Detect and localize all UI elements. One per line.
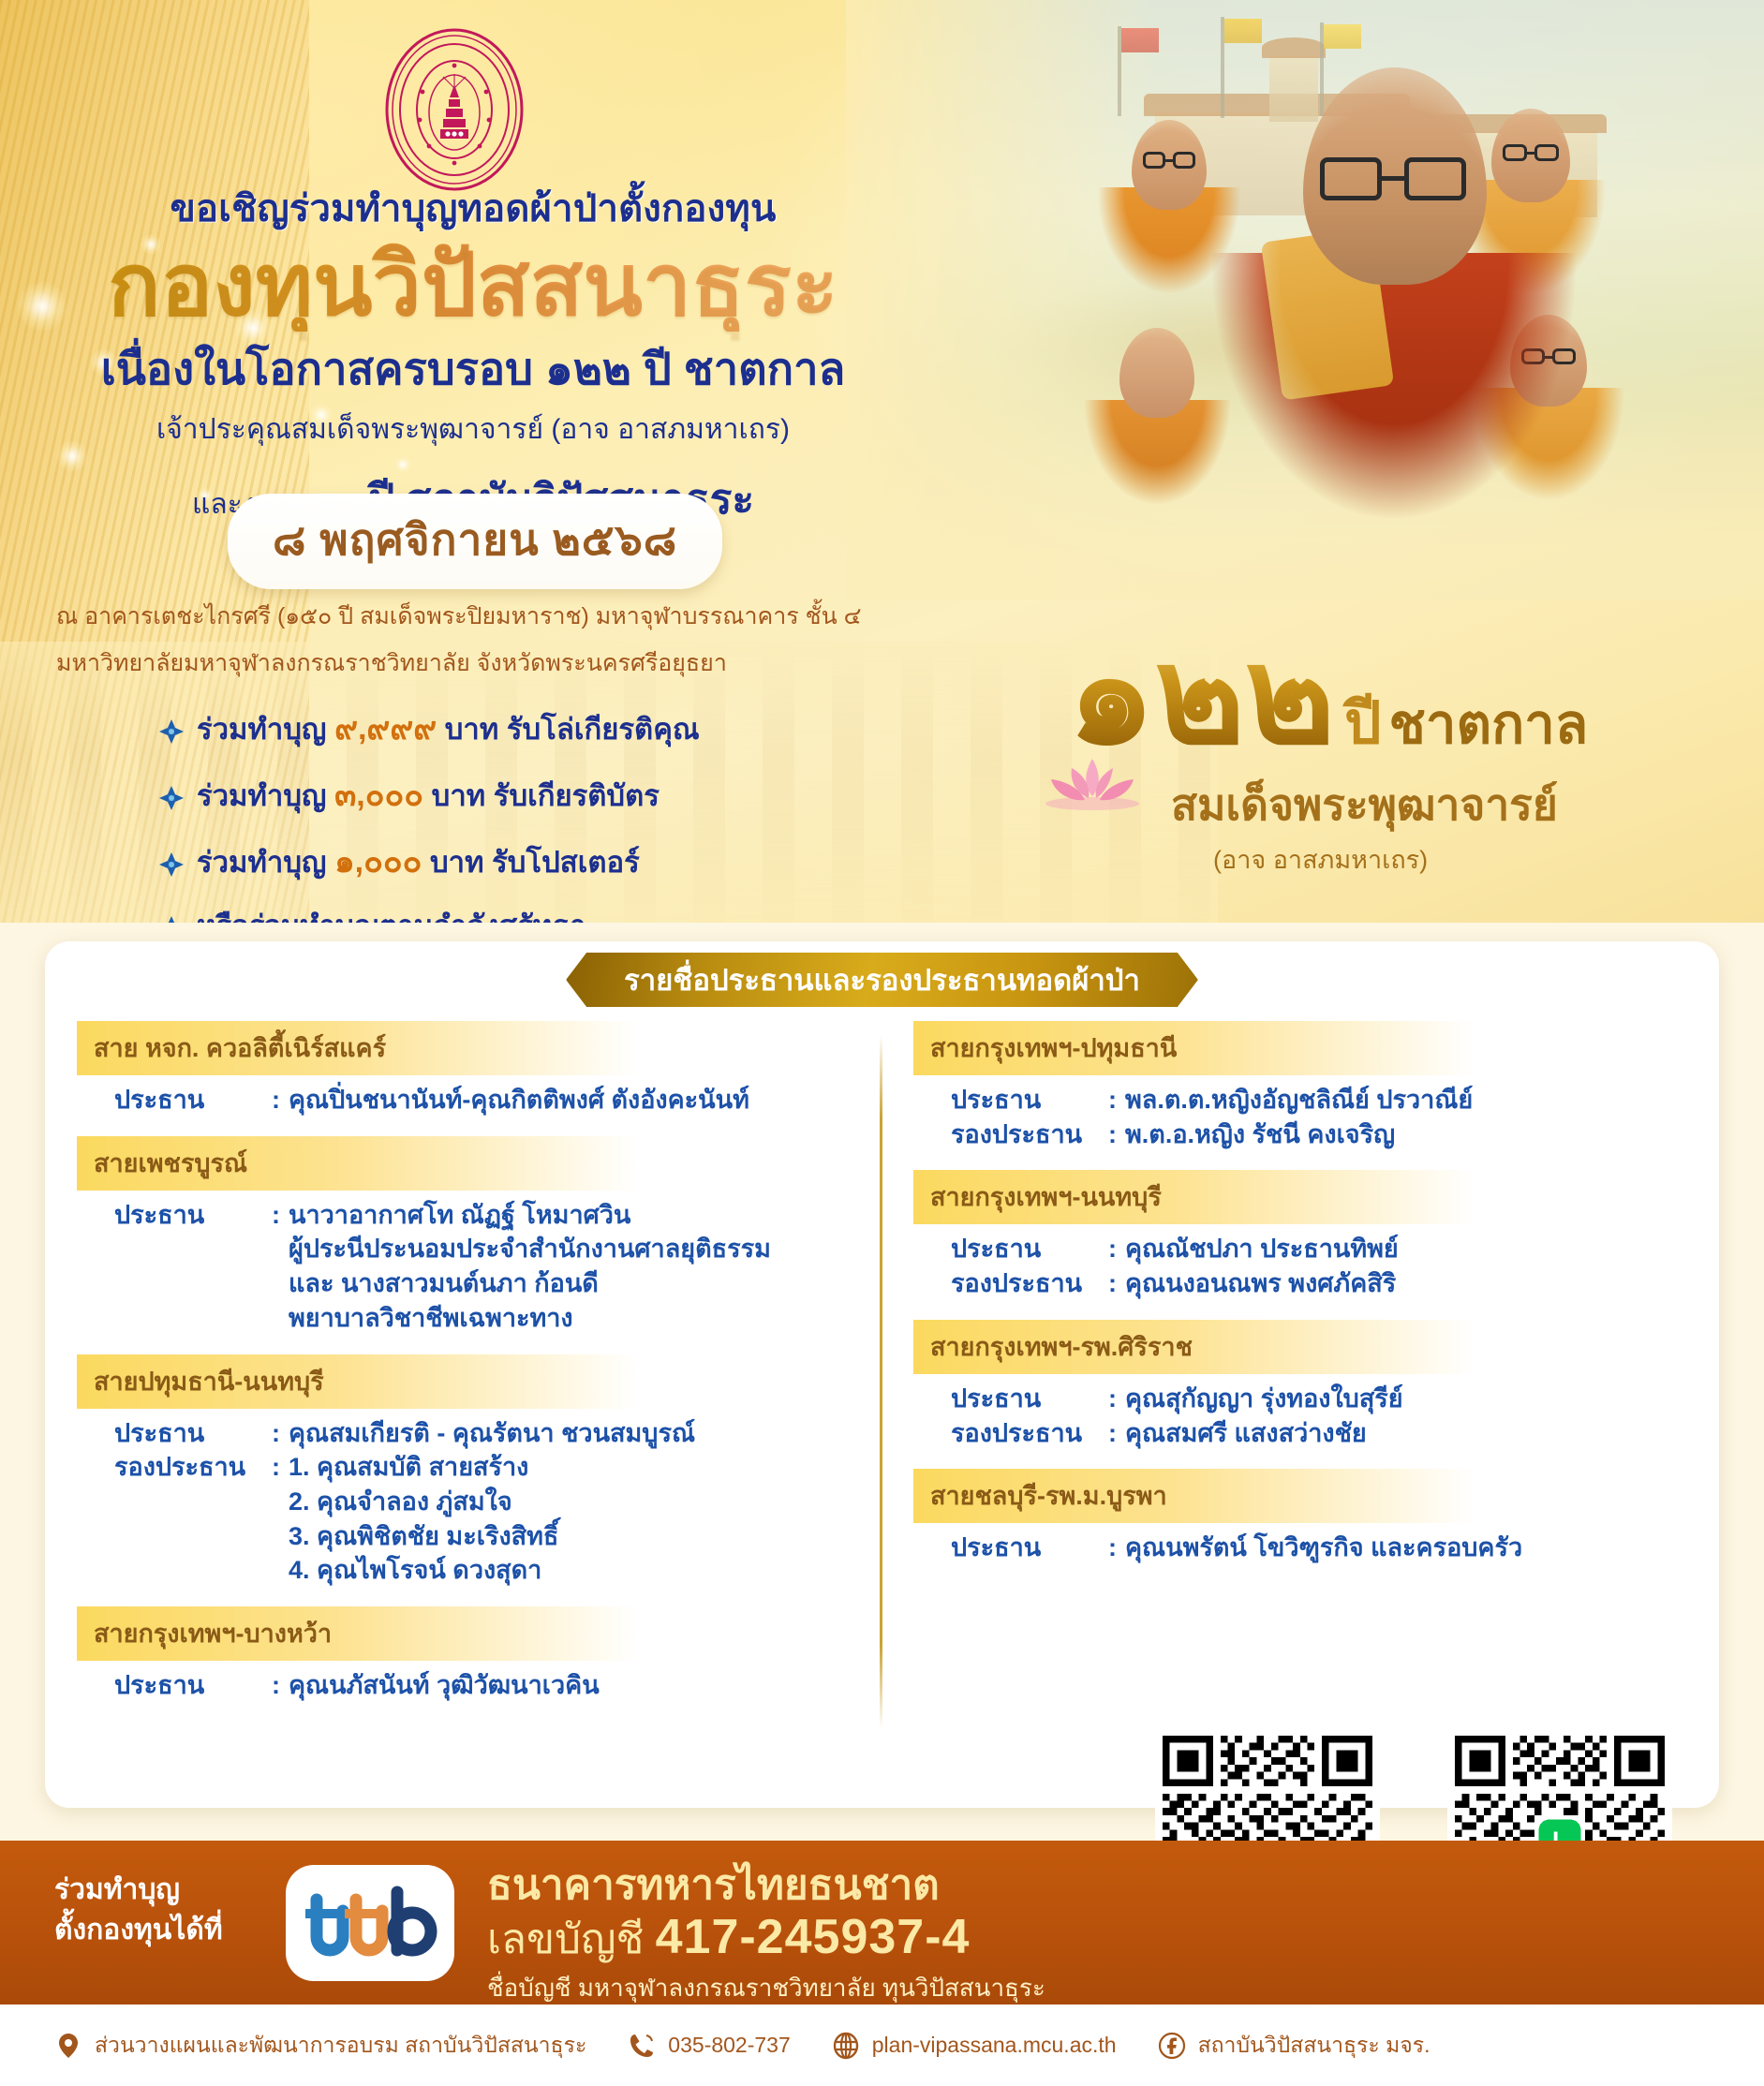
name-group: สาย หจก. ควอลิตี้เนิร์สแคร์ ประธาน : คุณ… bbox=[77, 1021, 850, 1131]
group-heading: สายกรุงเทพฯ-นนทบุรี bbox=[913, 1170, 1475, 1224]
name-group: สายกรุงเทพฯ-รพ.ศิริราช ประธาน : คุณสุกัญ… bbox=[913, 1320, 1686, 1463]
bank-donation-bar: ร่วมทำบุญ ตั้งกองทุนได้ที่ ธนาคารทหารไทย… bbox=[0, 1841, 1764, 2005]
tier-prefix: ร่วมทำบุญ bbox=[197, 713, 326, 746]
group-heading: สายกรุงเทพฯ-บางหว้า bbox=[77, 1606, 639, 1661]
account-name-label: ชื่อบัญชี bbox=[487, 1974, 571, 2002]
bank-cta-line1: ร่วมทำบุญ bbox=[54, 1871, 223, 1911]
row-role: ประธาน bbox=[951, 1232, 1108, 1266]
row-value: คุณนงอนณพร พงศภัคสิริ bbox=[1125, 1266, 1686, 1301]
row-value: คุณนพรัตน์ โขวิฑูรกิจ และครอบครัว bbox=[1125, 1531, 1686, 1565]
diamond-bullet-icon bbox=[159, 852, 184, 877]
anniversary-honoree-sub: (อาจ อาสภมหาเถร) bbox=[1213, 839, 1714, 880]
name-row: ประธาน : คุณนภัสนันท์ วุฒิวัฒนาเวคิน bbox=[77, 1668, 850, 1703]
donation-tier-list: ร่วมทำบุญ ๙,๙๙๙ บาท รับโล่เกียรติคุณ ร่ว… bbox=[159, 703, 700, 923]
donation-tier-item: ร่วมทำบุญ ๙,๙๙๙ บาท รับโล่เกียรติคุณ bbox=[159, 703, 700, 753]
name-group: สายกรุงเทพฯ-ปทุมธานี ประธาน : พล.ต.ต.หญิ… bbox=[913, 1021, 1686, 1164]
tier-reward: รับเกียรติบัตร bbox=[494, 779, 660, 812]
names-right-column: สายกรุงเทพฯ-ปทุมธานี ประธาน : พล.ต.ต.หญิ… bbox=[882, 1021, 1718, 1798]
row-colon: : bbox=[272, 1083, 289, 1117]
bank-cta-text: ร่วมทำบุญ ตั้งกองทุนได้ที่ bbox=[54, 1871, 223, 1950]
row-value: คุณณัชปภา ประธานทิพย์ bbox=[1125, 1232, 1686, 1266]
row-colon: : bbox=[272, 1198, 289, 1233]
name-row: รองประธาน : คุณสมศรี แสงสว่างชัย bbox=[913, 1416, 1686, 1451]
row-value: คุณสุกัญญา รุ่งทองใบสุรีย์ bbox=[1125, 1382, 1686, 1416]
row-value: คุณสมศรี แสงสว่างชัย bbox=[1125, 1416, 1686, 1451]
venue-line-2: มหาวิทยาลัยมหาจุฬาลงกรณราชวิทยาลัย จังหว… bbox=[56, 644, 927, 682]
row-colon: : bbox=[1108, 1117, 1125, 1152]
contact-website[interactable]: plan-vipassana.mcu.ac.th bbox=[832, 2032, 1117, 2060]
tier-prefix: ร่วมทำบุญ bbox=[197, 779, 326, 812]
honoree-name-line: เจ้าประคุณสมเด็จพระพุฒาจารย์ (อาจ อาสภมห… bbox=[0, 407, 946, 451]
row-colon: : bbox=[1108, 1266, 1125, 1301]
contact-phone[interactable]: 035-802-737 bbox=[628, 2032, 790, 2060]
group-heading: สายกรุงเทพฯ-ปทุมธานี bbox=[913, 1021, 1475, 1075]
occasion-line: เนื่องในโอกาสครบรอบ ๑๒๒ ปี ชาตกาล bbox=[0, 333, 946, 404]
name-group: สายชลบุรี-รพ.ม.บูรพา ประธาน : คุณนพรัตน์… bbox=[913, 1469, 1686, 1578]
tier-prefix: ร่วมทำบุญ bbox=[197, 846, 326, 879]
row-colon: : bbox=[272, 1668, 289, 1703]
name-row: ประธาน : คุณณัชปภา ประธานทิพย์ bbox=[913, 1232, 1686, 1266]
donation-tier-text: ร่วมทำบุญ ๑,๐๐๐ บาท รับโปสเตอร์ bbox=[197, 836, 640, 886]
event-date-text: ๘ พฤศจิกายน ๒๕๖๘ bbox=[273, 515, 677, 564]
tier-reward: รับโปสเตอร์ bbox=[492, 846, 640, 879]
tier-amount: ๓,๐๐๐ bbox=[334, 777, 423, 813]
donation-tier-text: ร่วมทำบุญ ๙,๙๙๙ บาท รับโล่เกียรติคุณ bbox=[197, 703, 700, 753]
facebook-icon bbox=[1158, 2032, 1186, 2060]
row-value: คุณปิ่นชนานันท์-คุณกิตติพงศ์ ตังอังคะนัน… bbox=[289, 1083, 850, 1117]
event-date-badge: ๘ พฤศจิกายน ๒๕๖๘ bbox=[228, 494, 722, 589]
name-row: ประธาน : นาวาอากาศโท ณัฏฐ์ โหมาศวิน bbox=[77, 1198, 850, 1233]
contact-address: ส่วนวางแผนและพัฒนาการอบรม สถาบันวิปัสสนา… bbox=[54, 2029, 586, 2063]
name-row: ประธาน : คุณนพรัตน์ โขวิฑูรกิจ และครอบคร… bbox=[913, 1531, 1686, 1565]
row-value: คุณนภัสนันท์ วุฒิวัฒนาเวคิน bbox=[289, 1668, 850, 1703]
name-row: รองประธาน : 1. คุณสมบัติ สายสร้าง bbox=[77, 1450, 850, 1485]
donation-tier-item: ร่วมทำบุญ ๑,๐๐๐ บาท รับโปสเตอร์ bbox=[159, 836, 700, 886]
contact-bar: ส่วนวางแผนและพัฒนาการอบรม สถาบันวิปัสสนา… bbox=[0, 2005, 1764, 2086]
location-pin-icon bbox=[54, 2032, 82, 2060]
name-row: ประธาน : คุณสมเกียรติ - คุณรัตนา ชวนสมบู… bbox=[77, 1416, 850, 1451]
invite-line: ขอเชิญร่วมทำบุญทอดผ้าป่าตั้งกองทุน bbox=[0, 178, 946, 238]
headline-block: ขอเชิญร่วมทำบุญทอดผ้าป่าตั้งกองทุน กองทุ… bbox=[0, 178, 946, 532]
name-group: สายกรุงเทพฯ-บางหว้า ประธาน : คุณนภัสนันท… bbox=[77, 1606, 850, 1716]
group-heading: สายชลบุรี-รพ.ม.บูรพา bbox=[913, 1469, 1475, 1523]
row-colon: : bbox=[1108, 1531, 1125, 1565]
fund-title: กองทุนวิปัสสนาธุระ bbox=[0, 240, 946, 332]
name-group: สายปทุมธานี-นนทบุรี ประธาน : คุณสมเกียรต… bbox=[77, 1354, 850, 1602]
group-heading: สายปทุมธานี-นนทบุรี bbox=[77, 1354, 639, 1409]
group-heading: สาย หจก. ควอลิตี้เนิร์สแคร์ bbox=[77, 1021, 639, 1075]
anniversary-chatakan: ชาตกาล bbox=[1389, 694, 1589, 755]
name-subline: 2. คุณจำลอง ภู่สมใจ bbox=[77, 1485, 850, 1519]
row-role: ประธาน bbox=[114, 1198, 272, 1233]
name-group: สายกรุงเทพฯ-นนทบุรี ประธาน : คุณณัชปภา ป… bbox=[913, 1170, 1686, 1313]
names-left-column: สาย หจก. ควอลิตี้เนิร์สแคร์ ประธาน : คุณ… bbox=[45, 1021, 882, 1798]
diamond-bullet-icon bbox=[159, 786, 184, 810]
bank-details: ธนาคารทหารไทยธนชาต เลขบัญชี 417-245937-4… bbox=[487, 1863, 1045, 2007]
anniversary-number: ๑๒๒ bbox=[1068, 628, 1335, 764]
tier-unit: บาท bbox=[430, 846, 484, 879]
tier-amount: ๑,๐๐๐ bbox=[334, 844, 422, 880]
row-value: นาวาอากาศโท ณัฏฐ์ โหมาศวิน bbox=[289, 1198, 850, 1233]
tier-unit: บาท bbox=[445, 713, 499, 746]
row-role: รองประธาน bbox=[114, 1450, 272, 1485]
row-value: พล.ต.ต.หญิงอัญชลิณีย์ ปรวาณีย์ bbox=[1125, 1083, 1686, 1117]
row-colon: : bbox=[1108, 1382, 1125, 1416]
contact-address-text: ส่วนวางแผนและพัฒนาการอบรม สถาบันวิปัสสนา… bbox=[95, 2029, 586, 2063]
row-value: พ.ต.อ.หญิง รัชนี คงเจริญ bbox=[1125, 1117, 1686, 1152]
tier-amount: ๙,๙๙๙ bbox=[334, 711, 437, 747]
ttb-bank-logo bbox=[286, 1865, 454, 1981]
group-heading: สายเพชรบูรณ์ bbox=[77, 1136, 639, 1191]
bank-account-name-line: ชื่อบัญชี มหาจุฬาลงกรณราชวิทยาลัย ทุนวิป… bbox=[487, 1969, 1045, 2007]
row-role: ประธาน bbox=[951, 1382, 1108, 1416]
anniversary-year-label: ปี bbox=[1344, 691, 1381, 756]
row-role: ประธาน bbox=[114, 1083, 272, 1117]
diamond-bullet-icon bbox=[159, 916, 184, 923]
phone-icon bbox=[628, 2032, 656, 2060]
row-colon: : bbox=[272, 1416, 289, 1451]
contact-website-text: plan-vipassana.mcu.ac.th bbox=[872, 2033, 1117, 2058]
bank-account-line: เลขบัญชี 417-245937-4 bbox=[487, 1910, 1045, 1964]
row-role: รองประธาน bbox=[951, 1416, 1108, 1451]
row-value: 1. คุณสมบัติ สายสร้าง bbox=[289, 1450, 850, 1485]
name-row: ประธาน : คุณปิ่นชนานันท์-คุณกิตติพงศ์ ตั… bbox=[77, 1083, 850, 1117]
row-role: รองประธาน bbox=[951, 1266, 1108, 1301]
account-name: มหาจุฬาลงกรณราชวิทยาลัย ทุนวิปัสสนาธุระ bbox=[578, 1974, 1045, 2002]
name-row: ประธาน : พล.ต.ต.หญิงอัญชลิณีย์ ปรวาณีย์ bbox=[913, 1083, 1686, 1117]
venue-line-1: ณ อาคารเตชะไกรศรี (๑๕๐ ปี สมเด็จพระปิยมห… bbox=[56, 598, 927, 635]
account-number: 417-245937-4 bbox=[656, 1910, 971, 1964]
poster-root: ขอเชิญร่วมทำบุญทอดผ้าป่าตั้งกองทุน กองทุ… bbox=[0, 0, 1764, 2086]
name-subline: 3. คุณพิชิตชัย มะเริงสิทธิ์ bbox=[77, 1519, 850, 1554]
anniversary-honoree: สมเด็จพระพุฒาจารย์ bbox=[1171, 771, 1714, 839]
anniversary-mark: ๑๒๒ปีชาตกาล สมเด็จพระพุฒาจารย์ (อาจ อาสภ… bbox=[1068, 628, 1714, 880]
row-role: ประธาน bbox=[951, 1083, 1108, 1117]
names-ribbon-title: รายชื่อประธานและรองประธานทอดผ้าป่า bbox=[566, 953, 1198, 1007]
contact-facebook-text: สถาบันวิปัสสนาธุระ มจร. bbox=[1198, 2029, 1430, 2063]
row-colon: : bbox=[1108, 1232, 1125, 1266]
mcu-seal-icon bbox=[380, 26, 528, 193]
tier-unit: บาท bbox=[432, 779, 486, 812]
donation-tier-item: ร่วมทำบุญ ๓,๐๐๐ บาท รับเกียรติบัตร bbox=[159, 769, 700, 820]
name-subline: พยาบาลวิชาชีพเฉพาะทาง bbox=[77, 1301, 850, 1336]
row-role: ประธาน bbox=[114, 1416, 272, 1451]
name-subline: 4. คุณไพโรจน์ ดวงสุดา bbox=[77, 1553, 850, 1588]
donation-tier-text: หรือร่วมทำบุญตามกำลังศรัทธา bbox=[197, 902, 586, 923]
contact-facebook[interactable]: สถาบันวิปัสสนาธุระ มจร. bbox=[1158, 2029, 1430, 2063]
bank-name: ธนาคารทหารไทยธนชาต bbox=[487, 1863, 1045, 1908]
name-row: ประธาน : คุณสุกัญญา รุ่งทองใบสุรีย์ bbox=[913, 1382, 1686, 1416]
name-row: รองประธาน : พ.ต.อ.หญิง รัชนี คงเจริญ bbox=[913, 1117, 1686, 1152]
globe-icon bbox=[832, 2032, 860, 2060]
diamond-bullet-icon bbox=[159, 719, 184, 744]
name-subline: และ นางสาวมนต์นภา ก้อนดี bbox=[77, 1266, 850, 1301]
tier-reward: รับโล่เกียรติคุณ bbox=[507, 713, 700, 746]
contact-phone-text: 035-802-737 bbox=[668, 2033, 790, 2058]
account-label: เลขบัญชี bbox=[487, 1916, 644, 1962]
row-role: ประธาน bbox=[951, 1531, 1108, 1565]
donation-tier-text: ร่วมทำบุญ ๓,๐๐๐ บาท รับเกียรติบัตร bbox=[197, 769, 660, 820]
venue-block: ณ อาคารเตชะไกรศรี (๑๕๐ ปี สมเด็จพระปิยมห… bbox=[56, 598, 927, 682]
row-role: ประธาน bbox=[114, 1668, 272, 1703]
row-colon: : bbox=[1108, 1083, 1125, 1117]
group-heading: สายกรุงเทพฯ-รพ.ศิริราช bbox=[913, 1320, 1475, 1374]
name-subline: ผู้ประนีประนอมประจำสำนักงานศาลยุติธรรม bbox=[77, 1232, 850, 1266]
row-role: รองประธาน bbox=[951, 1117, 1108, 1152]
name-group: สายเพชรบูรณ์ ประธาน : นาวาอากาศโท ณัฏฐ์ … bbox=[77, 1136, 850, 1349]
donation-tier-item: หรือร่วมทำบุญตามกำลังศรัทธา bbox=[159, 902, 700, 923]
row-colon: : bbox=[272, 1450, 289, 1485]
name-row: รองประธาน : คุณนงอนณพร พงศภัคสิริ bbox=[913, 1266, 1686, 1301]
hero-section: ขอเชิญร่วมทำบุญทอดผ้าป่าตั้งกองทุน กองทุ… bbox=[0, 0, 1764, 923]
row-value: คุณสมเกียรติ - คุณรัตนา ชวนสมบูรณ์ bbox=[289, 1416, 850, 1451]
names-columns: สาย หจก. ควอลิตี้เนิร์สแคร์ ประธาน : คุณ… bbox=[45, 1021, 1719, 1798]
bank-cta-line2: ตั้งกองทุนได้ที่ bbox=[54, 1911, 223, 1951]
row-colon: : bbox=[1108, 1416, 1125, 1451]
